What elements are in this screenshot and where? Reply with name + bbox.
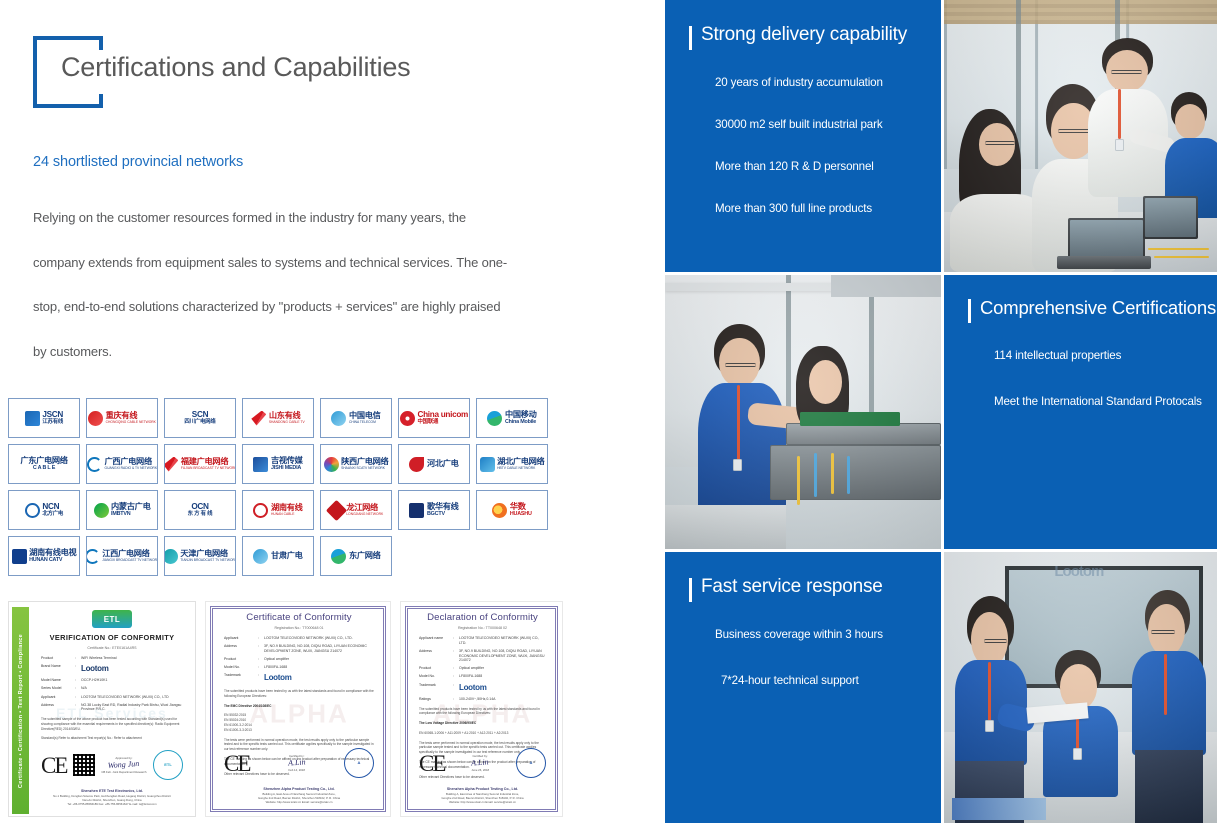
tile-item: 114 intellectual properties [994,349,1196,362]
certificate-standards-list: EN 60065-1:2006 + A11:2009 + A1:2010 + A… [413,731,552,736]
laptop-device [1068,218,1145,262]
page-title: Certifications and Capabilities [61,52,410,83]
qr-code-icon [73,754,95,776]
person-figure [955,596,1027,823]
certificate-directive-name: The Low Voltage Directive 2006/95/EC [419,721,476,725]
logo-row: 广东广电网络C A B L E广西广电网络GUANGXI RADIO & TV … [8,444,568,484]
certificate-signature-row: CE Certified by: A.Lin Feb 14, 2018 A [224,748,374,778]
section-subheading: 24 shortlisted provincial networks [33,154,243,170]
chongqing-cable-mark-icon [88,411,103,426]
ce-mark-icon: CE [224,752,249,775]
certificate-field-row: Model No.:LF800FA-1688 [224,665,374,670]
logo-primary-text: 中国移动 [505,411,537,419]
certificate-brand-logo: Lootom [264,673,374,684]
equipment-chassis [786,423,941,445]
certificate-title: Declaration of Conformity [413,612,552,623]
certificate-field-label: Ratings [419,697,453,702]
tile-item: 20 years of industry accumulation [715,76,917,89]
certificate-paragraph: The submitted products have been tested … [218,689,380,699]
certificate-field-value: 100-240V~,50Hz,0.14A [459,697,546,702]
tile-strong-delivery-capability: Strong delivery capability 20 years of i… [665,0,941,272]
fujian-broadcast-mark-icon [164,457,178,472]
certificate-paragraph: The submitted sample of the above produc… [35,717,189,731]
certificate-field-list: Applicant:LOOTOM TELECOVIDEO NETWORK (WU… [218,636,380,684]
certificate-field-row: Address:3F, NO.9 BUILDING, NO.108, DIQIU… [419,649,546,663]
partner-logo-china-unicom[interactable]: China unicom中国联通 [398,398,470,438]
feature-tile-grid: Strong delivery capability 20 years of i… [665,0,1217,823]
certificate-directive-name: The EMC Directive 2004/108/EC [224,704,271,708]
certificate-field-row: Product:WiFi Wireless Terminal [41,656,183,661]
certificate-field-value: WiFi Wireless Terminal [81,656,183,661]
logo-primary-text: 山东有线 [269,412,305,420]
certificate-field-value: LOOTOM TELECOVIDEO NETWORK (WUXI) CO., L… [459,636,546,645]
huashu-mark-icon [492,503,507,518]
partner-logo-jiangsu-cable[interactable]: JSCN江苏有线 [8,398,80,438]
tile-item: Business coverage within 3 hours [715,628,917,641]
certification-stamp-icon: A [344,748,374,778]
certification-stamp-icon: ETL [153,750,183,780]
logo-secondary-text: LONGJIANG NETWORK [346,513,383,516]
certificate-body: ETL Services ETL VERIFICATION OF CONFORM… [35,608,189,810]
logo-row: JSCN江苏有线重庆有线CHONGQING CABLE NETWORKSCN四川… [8,398,568,438]
certificate-field-label: Model No. [419,674,453,679]
certificate-field-label: Product [224,657,258,662]
partner-logo-grid: JSCN江苏有线重庆有线CHONGQING CABLE NETWORKSCN四川… [8,398,568,582]
certificate-field-row: Product:Optical amplifier [224,657,374,662]
fiber-cable [847,456,850,494]
tianjin-cable-mark-icon [164,549,178,564]
certificate-field-value: NO.38 Lucky East RD, Radial Industry Par… [81,703,183,712]
logo-secondary-text: HUNAN CABLE [271,513,303,516]
logo-secondary-text: 东 方 有 线 [188,512,213,517]
section-paragraph: Relying on the customer resources formed… [33,196,533,374]
certificate-field-row: Model No.:LF800FA-1688 [419,674,546,679]
logo-primary-text: 天津广电网络 [180,550,236,558]
fiber-cable [831,453,834,494]
certificate-field-value: LF800FA-1688 [264,665,374,670]
logo-primary-text: 湖南有线电视 [29,549,76,557]
logo-primary-text: 湖北广电网络 [497,458,544,466]
bgctv-mark-icon [409,503,424,518]
logo-secondary-text: GUANGXI RADIO & TV NETWORK [105,467,158,470]
guangxi-cable-mark-icon [87,457,102,472]
certificate-card[interactable]: Certificate • Certification • Test Repor… [8,601,196,817]
partner-logo-guangxi-cable[interactable]: 广西广电网络GUANGXI RADIO & TV NETWORK [86,444,158,484]
logo-primary-text: 江西广电网络 [102,550,158,558]
certificate-field-label: Series Model [41,686,75,691]
partner-logo-hunan-catv[interactable]: 湖南有线电视HUNAN CATV [8,536,80,576]
logo-secondary-text: JIANGXI BROADCAST TV NETWORK [102,559,158,562]
tile-production-lab-photo [665,275,941,549]
certificate-directive: The EMC Directive 2004/108/EC [218,704,380,709]
ce-mark-icon: CE [419,752,444,775]
partner-logo-fujian-broadcast[interactable]: 福建广电网络FUJIAN BROADCAST TV NETWORK [164,444,236,484]
certificate-field-label: Model No. [224,665,258,670]
service-team-photo: Lootom [944,552,1217,823]
certificate-field-label: Trademark [224,673,258,684]
certificate-standard: EN 60065-1:2006 + A11:2009 + A1:2010 + A… [419,731,546,736]
certificate-field-label: Applicant [41,695,75,700]
logo-secondary-text: CHONGQING CABLE NETWORK [106,421,156,424]
signature-block: Certified by: A.Lin June 26, 2018 [471,754,489,772]
signature-mark: A.Lin [288,757,306,767]
certificate-footer: Shenzhen Alpha Product Testing Co., Ltd.… [224,787,374,804]
tile-item: More than 120 R & D personnel [715,160,917,173]
page-title-block: Certifications and Capabilities [33,36,533,112]
certificate-field-label: Address [224,644,258,653]
tile-item: Meet the International Standard Protocal… [994,395,1196,408]
rd-team-photo [944,0,1217,272]
certificate-body: ALPHA Certificate of Conformity Registra… [218,612,380,808]
logo-primary-text: SCN [192,411,208,419]
work-table [665,505,786,549]
certificate-signature-row: CE Certified by: A.Lin June 26, 2018 A [419,748,546,778]
certificate-field-row: Model Name:OCCP-H2H10K1 [41,678,183,683]
certificate-field-row: Product:Optical amplifier [419,666,546,671]
tile-item: 7*24-hour technical support [715,674,917,687]
partner-logo-jishi-media[interactable]: 吉视传媒JISHI MEDIA [242,444,314,484]
logo-secondary-text: FUJIAN BROADCAST TV NETWORK [181,467,236,470]
logo-primary-text: 湖南有线 [271,504,303,512]
certificate-field-value: LF800FA-1688 [459,674,546,679]
certificate-field-label: Trademark [419,683,453,694]
logo-secondary-text: CHINA TELECOM [349,421,381,424]
certificate-card[interactable]: ALPHA Declaration of Conformity Registra… [400,601,563,817]
signature-sub: CB Feb. Joint Department Research [101,770,146,774]
logo-secondary-text: IMBTVN [111,512,150,517]
partner-logo-huashu[interactable]: 华数HUASHU [476,490,548,530]
certificate-field-label: Product [419,666,453,671]
logo-row: NCN北方广电内蒙古广电IMBTVNOCN东 方 有 线湖南有线HUNAN CA… [8,490,568,530]
logo-secondary-text: HUNAN CATV [29,558,76,563]
partner-logo-ncn-north-cable[interactable]: NCN北方广电 [8,490,80,530]
certificate-field-label: Model Name [41,678,75,683]
partner-logo-china-mobile[interactable]: 中国移动China Mobile [476,398,548,438]
tile-rd-team-photo [944,0,1217,272]
jishi-media-mark-icon [253,457,268,472]
inner-mongolia-tv-mark-icon [94,503,109,518]
logo-primary-text: 福建广电网络 [181,458,236,466]
partner-logo-hebei-broadcast[interactable]: 河北广电 [398,444,470,484]
logo-primary-text: 甘肃广电 [271,552,303,560]
tile-header: Fast service response [689,576,917,602]
tile-comprehensive-certifications: Comprehensive Certifications 114 intelle… [944,275,1217,549]
jiangxi-cable-mark-icon [86,549,100,564]
logo-secondary-text: C A B L E [33,466,55,471]
partner-logo-dongguang-network[interactable]: 东广网络 [320,536,392,576]
certificate-field-label: Brand Name [41,664,75,675]
certificate-registration-no: Registration No.: TT000648 02 [413,626,552,630]
tile-title: Comprehensive Certifications [980,297,1216,318]
tile-item: 30000 m2 self built industrial park [715,118,917,131]
certificate-title: VERIFICATION OF CONFORMITY [35,633,189,642]
certificate-field-label: Applicant [224,636,258,641]
certificate-footer-line: Website: http://www.szatc.cn Email: serv… [224,800,374,804]
jiangsu-cable-mark-icon [25,411,40,426]
production-lab-photo [665,275,941,549]
china-unicom-mark-icon [400,411,415,426]
logo-primary-text: 重庆有线 [106,412,156,420]
logo-secondary-text: 北方广电 [42,512,63,517]
certificate-standard: EN 61000-3-3:2013 [224,728,374,733]
etl-logo-icon: ETL [92,610,132,628]
certificate-field-row: Brand Name:Lootom [41,664,183,675]
ncn-north-cable-mark-icon [25,503,40,518]
certificate-field-row: Trademark:Lootom [224,673,374,684]
partner-logo-gansu-broadcast[interactable]: 甘肃广电 [242,536,314,576]
trousers [1135,750,1204,823]
partner-logo-shandong-cable[interactable]: 山东有线SHANDONG CABLE TV [242,398,314,438]
signature-mark: Wong Jun [101,758,147,770]
certificate-gallery: Certificate • Certification • Test Repor… [8,601,563,817]
left-content-column: Certifications and Capabilities 24 short… [0,0,660,823]
certificate-field-row: Series Model:N/A [41,686,183,691]
tile-accent-bar-icon [689,26,692,50]
certificate-field-value: LOOTOM TELECOVIDEO NETWORK (WUXI) CO., L… [264,636,374,641]
person-figure [1132,590,1207,823]
tile-title: Fast service response [701,576,883,598]
tile-header: Comprehensive Certifications [968,297,1196,323]
china-mobile-mark-icon [487,411,502,426]
partner-logo-jiangxi-cable[interactable]: 江西广电网络JIANGXI BROADCAST TV NETWORK [86,536,158,576]
logo-primary-text: 广西广电网络 [105,458,158,466]
partner-logo-inner-mongolia-tv[interactable]: 内蒙古广电IMBTVN [86,490,158,530]
hunan-cable-mark-icon [253,503,268,518]
certificate-registration-no: Certificate No.: ETE0161A4RS [35,646,189,650]
logo-primary-text: China unicom [417,411,468,419]
certificate-field-row: Ratings:100-240V~,50Hz,0.14A [419,697,546,702]
paragraph-line: by customers. [33,330,533,375]
certificate-field-row: Applicant:LOOTOM TELECOVIDEO NETWORK (WU… [224,636,374,641]
logo-primary-text: 陕西广电网络 [341,458,388,466]
partner-logo-bgctv[interactable]: 歌华有线BGCTV [398,490,470,530]
china-telecom-mark-icon [331,411,346,426]
certificate-brand-logo: Lootom [459,683,546,694]
certificate-field-value: LOOTOM TELECOVIDEO NETWORK (WUXI) CO., L… [81,695,183,700]
logo-secondary-text: JISHI MEDIA [271,466,303,471]
hebei-broadcast-mark-icon [409,457,424,472]
shaanxi-cable-mark-icon [324,457,339,472]
signature-block: Certified by: A.Lin Feb 14, 2018 [288,754,306,772]
laptop-keyboard [1057,256,1151,270]
ce-mark-icon: CE [41,754,66,777]
certificate-field-list: Applicant name:LOOTOM TELECOVIDEO NETWOR… [413,636,552,702]
logo-primary-text: 龙江网络 [346,504,383,512]
certificate-field-list: Product:WiFi Wireless TerminalBrand Name… [35,656,189,712]
logo-primary-text: 华数 [510,503,532,511]
paragraph-line: stop, end-to-end solutions characterized… [33,285,533,330]
partner-logo-oriental-cable[interactable]: OCN东 方 有 线 [164,490,236,530]
logo-primary-text: OCN [191,503,208,511]
partner-logo-shaanxi-cable[interactable]: 陕西广电网络SHAANXI SCATV NETWORK [320,444,392,484]
logo-primary-text: NCN [42,503,63,511]
logo-secondary-text: SHAANXI SCATV NETWORK [341,467,388,470]
partner-logo-longjiang-network[interactable]: 龙江网络LONGJIANG NETWORK [320,490,392,530]
partner-logo-guangdong-cable[interactable]: 广东广电网络C A B L E [8,444,80,484]
certificate-field-row: Address:NO.38 Lucky East RD, Radial Indu… [41,703,183,712]
certificate-field-value: 3F, NO.9 BUILDING, NO.108, DIQIU ROAD, L… [264,644,374,653]
certificate-title: Certificate of Conformity [218,612,380,623]
certificate-field-value: 3F, NO.9 BUILDING, NO.108, DIQIU ROAD, L… [459,649,546,663]
certificate-directive: The Low Voltage Directive 2006/95/EC [413,721,552,726]
certificate-side-band: Certificate • Certification • Test Repor… [12,607,29,814]
certificate-field-label: Address [419,649,453,663]
tile-item-list: Business coverage within 3 hours 7*24-ho… [689,628,917,687]
certificate-standards-list: EN 55032:2015EN 55024:2010EN 61000-3-2:2… [218,713,380,732]
logo-primary-text: JSCN [42,411,63,419]
logo-primary-text: 东广网络 [349,552,381,560]
fiber-cable [1148,248,1209,250]
logo-secondary-text: 江苏有线 [42,420,63,425]
certificate-field-row: Address:3F, NO.9 BUILDING, NO.108, DIQIU… [224,644,374,653]
partner-logo-tianjin-cable[interactable]: 天津广电网络TIANJIN BROADCAST TV NETWORK [164,536,236,576]
signature-date: June 26, 2018 [471,768,489,772]
longjiang-network-mark-icon [326,499,347,520]
window-sign-text: Lootom [1054,563,1103,580]
fiber-cable [814,453,817,497]
shandong-cable-mark-icon [251,411,266,426]
certificate-field-row: Applicant name:LOOTOM TELECOVIDEO NETWOR… [419,636,546,645]
certificate-field-label: Product [41,656,75,661]
logo-secondary-text: TIANJIN BROADCAST TV NETWORK [180,559,236,562]
logo-secondary-text: BGCTV [427,512,459,517]
signature-block: Approved by: Wong Jun CB Feb. Joint Depa… [101,756,146,774]
gansu-broadcast-mark-icon [253,549,268,564]
tile-header: Strong delivery capability [689,24,917,50]
logo-primary-text: 歌华有线 [427,503,459,511]
hubei-cable-mark-icon [480,457,495,472]
tile-item-list: 114 intellectual properties Meet the Int… [968,349,1196,408]
paragraph-line: company extends from equipment sales to … [33,241,533,286]
logo-secondary-text: China Mobile [505,420,537,425]
certificate-field-value: Optical amplifier [459,666,546,671]
certificate-field-label: Address [41,703,75,712]
tile-item: More than 300 full line products [715,202,917,215]
logo-row: 湖南有线电视HUNAN CATV江西广电网络JIANGXI BROADCAST … [8,536,568,576]
certificate-brand-logo: Lootom [81,664,183,675]
certificate-registration-no: Registration No.: TT000648 01 [218,626,380,630]
certificate-field-row: Applicant:LOOTOM TELECOVIDEO NETWORK (WU… [41,695,183,700]
certificate-field-value: OCCP-H2H10K1 [81,678,183,683]
tile-accent-bar-icon [968,299,971,323]
logo-primary-text: 广东广电网络 [20,457,67,465]
certificate-paragraph: The submitted products have been tested … [413,707,552,717]
certificate-footer: Shenzhen ETE Test Electronics, Ltd. No.1… [41,789,183,806]
certificate-footer-line: Website: http://www.szatc.cn Email: serv… [419,800,546,804]
partner-logo-sichuan-scn[interactable]: SCN四川广电网络 [164,398,236,438]
certificate-footer-line: Tel: +86-0755-86566189 Fax: +86-755-8656… [41,802,183,806]
certificate-footer: Shenzhen Alpha Product Testing Co., Ltd.… [419,787,546,804]
equipment-rack [770,445,941,500]
partner-logo-chongqing-cable[interactable]: 重庆有线CHONGQING CABLE NETWORK [86,398,158,438]
certificate-signature-row: CE Approved by: Wong Jun CB Feb. Joint D… [41,750,183,780]
logo-secondary-text: 四川广电网络 [184,420,215,425]
certificate-side-band-text: Certificate • Certification • Test Repor… [18,633,24,787]
tile-service-team-photo: Lootom [944,552,1217,823]
certificate-card[interactable]: ALPHA Certificate of Conformity Registra… [205,601,391,817]
ceiling-rail [831,275,941,297]
certificate-paragraph-2: Standard(s) Refer to attachment Test rep… [35,736,189,741]
tile-fast-service-response: Fast service response Business coverage … [665,552,941,823]
certification-stamp-icon: A [516,748,546,778]
partner-logo-hunan-cable[interactable]: 湖南有线HUNAN CABLE [242,490,314,530]
logo-primary-text: 河北广电 [427,460,459,468]
circuit-board [800,412,899,426]
signature-mark: A.Lin [471,757,489,767]
logo-primary-text: 中国电信 [349,412,381,420]
logo-primary-text: 内蒙古广电 [111,503,150,511]
certificate-body: ALPHA Declaration of Conformity Registra… [413,612,552,808]
logo-secondary-text: HUASHU [510,512,532,517]
partner-logo-china-telecom[interactable]: 中国电信CHINA TELECOM [320,398,392,438]
laptop-device [1143,196,1198,240]
tile-title: Strong delivery capability [701,24,907,46]
certificate-field-row: Trademark:Lootom [419,683,546,694]
certificate-field-value: Optical amplifier [264,657,374,662]
signature-date: Feb 14, 2018 [288,768,306,772]
certificate-field-label: Applicant name [419,636,453,645]
paragraph-line: Relying on the customer resources formed… [33,196,533,241]
tile-item-list: 20 years of industry accumulation 30000 … [689,76,917,215]
logo-primary-text: 吉视传媒 [271,457,303,465]
tile-accent-bar-icon [689,578,692,602]
dongguang-network-mark-icon [331,549,346,564]
partner-logo-hubei-cable[interactable]: 湖北广电网络HBTV CABLE NETWORK [476,444,548,484]
logo-secondary-text: HBTV CABLE NETWORK [497,467,544,470]
certifications-and-capabilities-page: Certifications and Capabilities 24 short… [0,0,1217,823]
certificate-field-value: N/A [81,686,183,691]
person-figure [1043,650,1118,823]
window-blind [944,0,1217,24]
binder-stack [952,798,1046,820]
logo-secondary-text: SHANDONG CABLE TV [269,421,305,424]
logo-secondary-text: 中国联通 [417,420,468,425]
hunan-catv-mark-icon [12,549,27,564]
